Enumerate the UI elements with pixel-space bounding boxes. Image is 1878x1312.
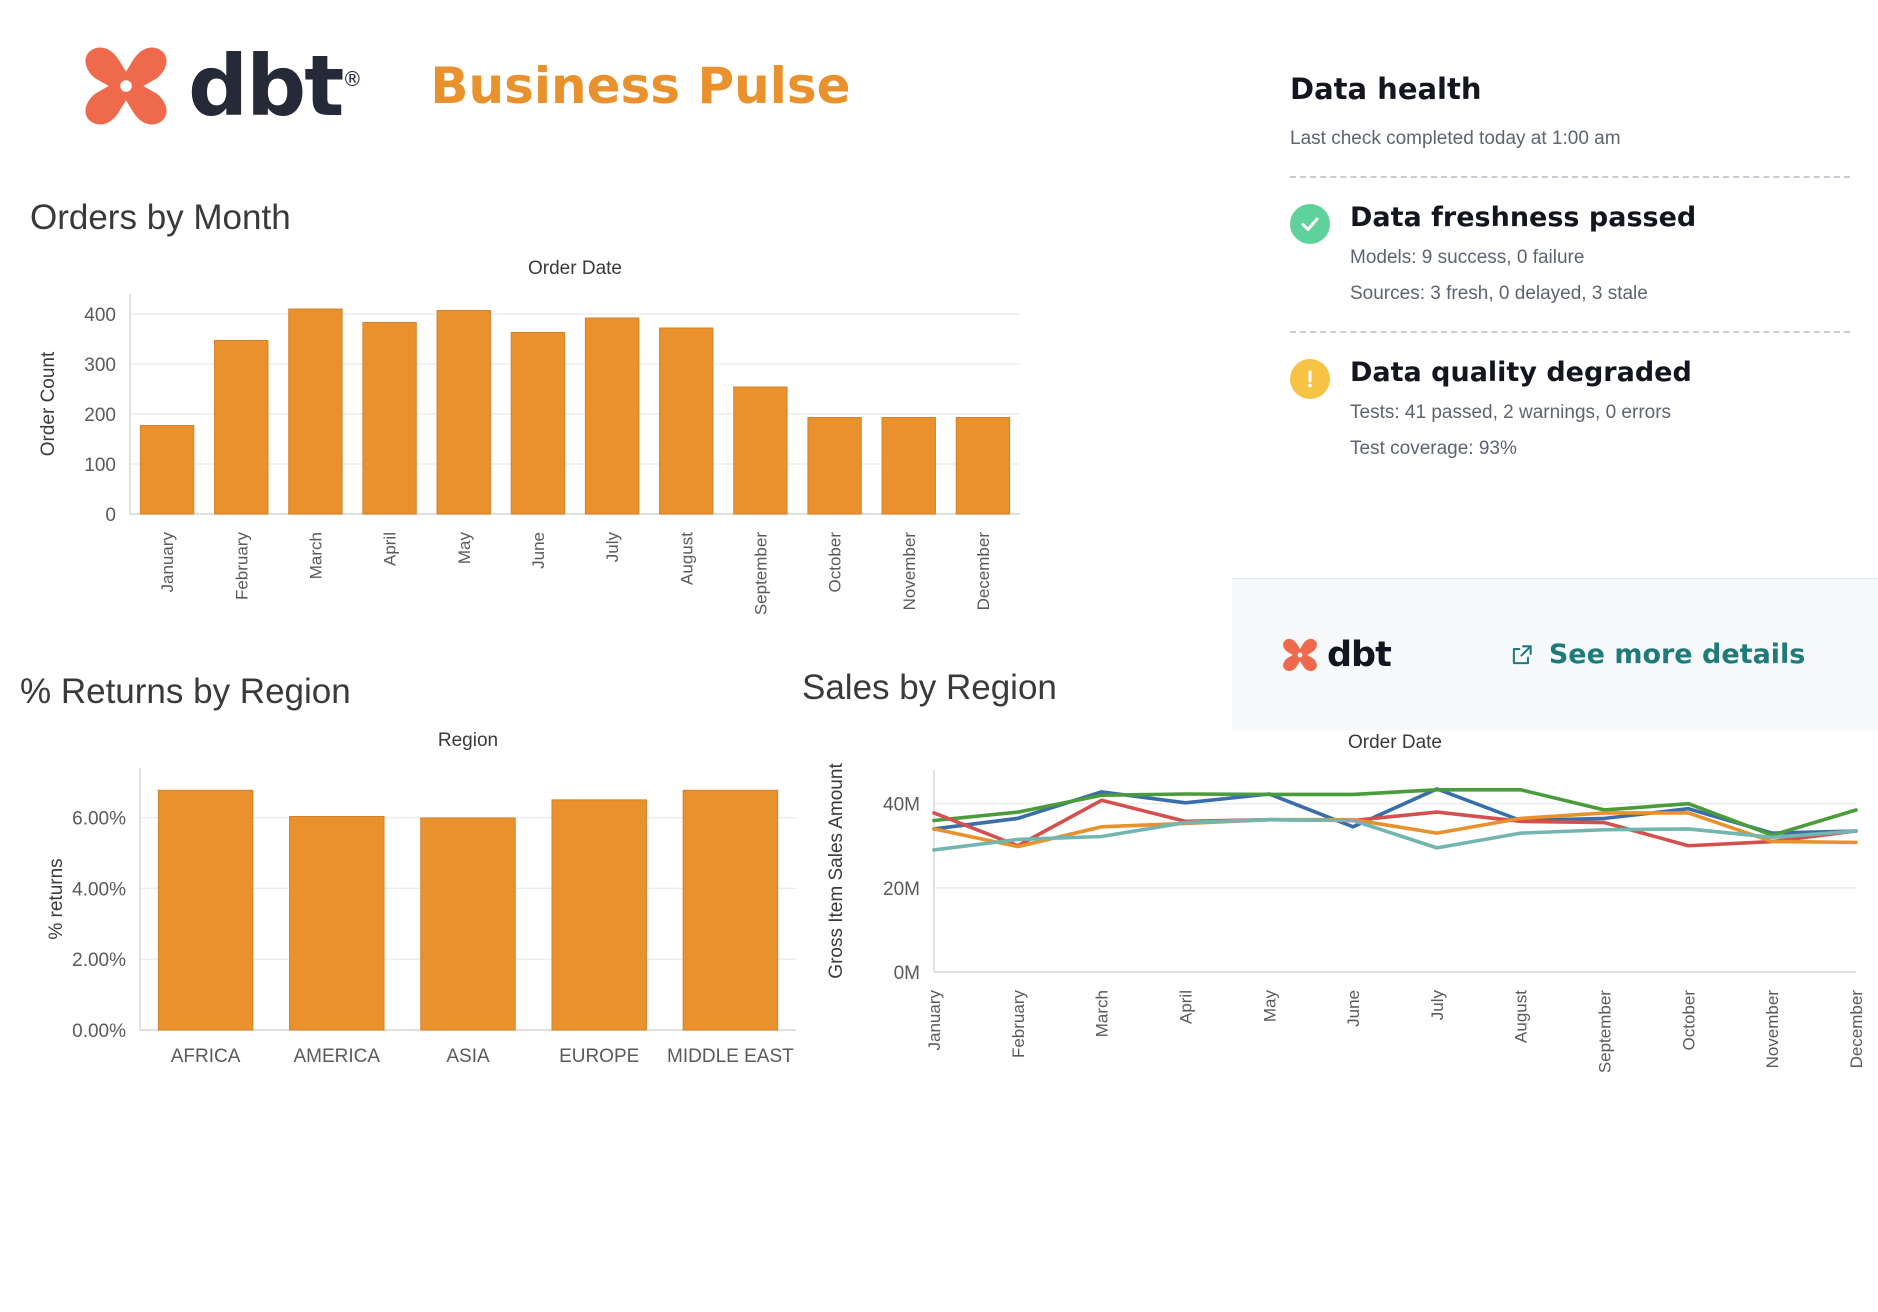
y-tick-label: 6.00% (72, 809, 126, 830)
x-tick-label: February (1009, 990, 1028, 1059)
data-health-heading: Data health (1290, 72, 1850, 106)
x-tick-label: January (158, 532, 177, 593)
bar[interactable] (683, 790, 777, 1030)
dbt-x-logo-icon (1280, 635, 1320, 675)
x-tick-label: October (826, 532, 845, 593)
divider (1290, 331, 1850, 333)
health-item-line: Test coverage: 93% (1350, 438, 1850, 460)
divider (1290, 176, 1850, 178)
x-tick-label: November (1763, 990, 1782, 1069)
x-tick-label: August (1512, 990, 1531, 1043)
x-tick-label: May (1260, 990, 1279, 1023)
bar[interactable] (215, 341, 268, 515)
x-tick-label: October (1679, 990, 1698, 1051)
y-axis-label: % returns (46, 858, 67, 939)
x-tick-label: ASIA (446, 1046, 490, 1067)
health-item-title: Data quality degraded (1350, 357, 1850, 388)
x-tick-label: July (1428, 990, 1447, 1021)
bar[interactable] (585, 318, 638, 514)
y-tick-label: 200 (84, 405, 116, 426)
health-item-title: Data freshness passed (1350, 202, 1850, 233)
see-more-details-card[interactable]: dbt See more details (1232, 578, 1878, 730)
sales-by-region-chart[interactable]: Order Date0M20M40MGross Item Sales Amoun… (806, 722, 1866, 1102)
x-tick-label: September (1596, 990, 1615, 1073)
chart-header-title: Region (438, 730, 498, 751)
y-axis-label: Gross Item Sales Amount (826, 763, 847, 979)
x-tick-label: April (381, 532, 400, 566)
y-tick-label: 4.00% (72, 879, 126, 900)
x-tick-label: February (232, 532, 251, 601)
y-tick-label: 0 (105, 505, 116, 526)
dbt-x-logo-icon (78, 38, 174, 134)
x-tick-label: AMERICA (294, 1046, 381, 1067)
bar[interactable] (421, 818, 515, 1030)
x-tick-label: December (974, 532, 993, 611)
x-tick-label: May (455, 532, 474, 565)
y-tick-label: 40M (883, 795, 920, 816)
x-tick-label: AFRICA (171, 1046, 241, 1067)
bar[interactable] (660, 328, 713, 514)
bar[interactable] (956, 418, 1009, 515)
x-tick-label: August (677, 532, 696, 585)
dbt-wordmark: dbt® (188, 44, 360, 128)
x-tick-label: June (1344, 990, 1363, 1027)
bar[interactable] (882, 418, 935, 515)
x-tick-label: January (925, 990, 944, 1051)
x-tick-label: September (751, 532, 770, 615)
chart-header-title: Order Date (528, 258, 622, 279)
bar[interactable] (734, 387, 787, 514)
dbt-wordmark-small: dbt (1327, 635, 1391, 675)
warning-circle-icon (1290, 359, 1330, 399)
page-title: Business Pulse (430, 57, 850, 115)
bar[interactable] (289, 309, 342, 514)
dbt-logo: dbt® (78, 38, 360, 134)
bar[interactable] (140, 426, 193, 515)
sales-chart-title: Sales by Region (802, 668, 1057, 708)
bar[interactable] (437, 311, 490, 515)
bar[interactable] (808, 418, 861, 515)
y-tick-label: 100 (84, 455, 116, 476)
y-tick-label: 0M (894, 963, 920, 984)
health-item-line: Sources: 3 fresh, 0 delayed, 3 stale (1350, 283, 1850, 305)
returns-by-region-chart[interactable]: Region0.00%2.00%4.00%6.00%% returnsAFRIC… (18, 722, 808, 1102)
y-axis-label: Order Count (38, 351, 59, 456)
x-tick-label: EUROPE (559, 1046, 639, 1067)
x-tick-label: March (1093, 990, 1112, 1037)
x-tick-label: November (900, 532, 919, 611)
see-more-details-link[interactable]: See more details (1509, 639, 1806, 670)
y-tick-label: 0.00% (72, 1021, 126, 1042)
bar[interactable] (158, 790, 252, 1030)
check-circle-icon (1290, 204, 1330, 244)
bar[interactable] (363, 323, 416, 515)
y-tick-label: 400 (84, 305, 116, 326)
health-item-freshness: Data freshness passed Models: 9 success,… (1290, 202, 1850, 305)
last-check-text: Last check completed today at 1:00 am (1290, 128, 1850, 150)
x-tick-label: December (1847, 990, 1866, 1069)
bar[interactable] (552, 800, 646, 1030)
y-tick-label: 300 (84, 355, 116, 376)
health-item-quality: Data quality degraded Tests: 41 passed, … (1290, 357, 1850, 460)
y-tick-label: 2.00% (72, 950, 126, 971)
returns-chart-title: % Returns by Region (20, 672, 351, 712)
x-tick-label: MIDDLE EAST (667, 1046, 794, 1067)
dashboard-page: dbt® Business Pulse Orders by Month % Re… (0, 0, 1878, 1312)
dashboard-header: dbt® Business Pulse (78, 38, 851, 134)
data-health-panel: Data health Last check completed today a… (1290, 72, 1850, 460)
health-item-line: Models: 9 success, 0 failure (1350, 247, 1850, 269)
orders-by-month-chart[interactable]: Order Date0100200300400Order CountJanuar… (20, 252, 1030, 652)
x-tick-label: April (1176, 990, 1195, 1024)
bar[interactable] (511, 333, 564, 515)
see-more-details-label: See more details (1549, 639, 1806, 670)
line-series[interactable] (934, 790, 1856, 835)
x-tick-label: July (603, 532, 622, 563)
external-link-icon (1509, 642, 1535, 668)
health-item-line: Tests: 41 passed, 2 warnings, 0 errors (1350, 402, 1850, 424)
dbt-logo-small: dbt (1280, 635, 1391, 675)
x-tick-label: June (529, 532, 548, 569)
chart-header-title: Order Date (1348, 732, 1442, 753)
y-tick-label: 20M (883, 879, 920, 900)
x-tick-label: March (306, 532, 325, 579)
bar[interactable] (290, 817, 384, 1030)
orders-chart-title: Orders by Month (30, 198, 291, 238)
